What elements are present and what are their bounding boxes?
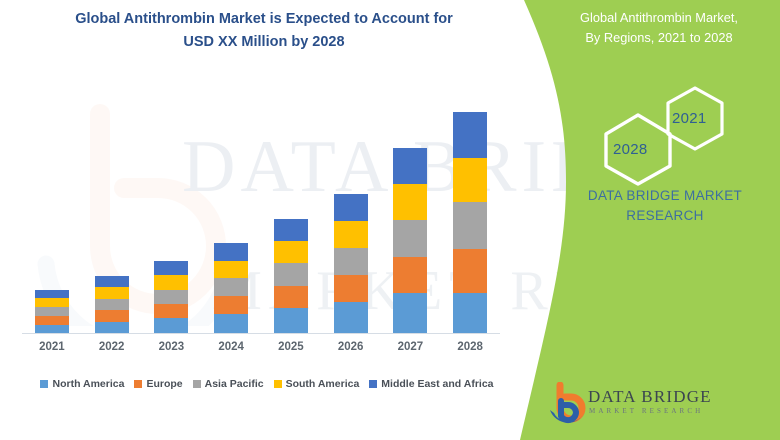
chart-bar-segment [393, 293, 427, 334]
legend-swatch [369, 380, 377, 388]
chart-bar-segment [154, 261, 188, 276]
chart-bar-segment [334, 248, 368, 275]
chart-bar [95, 276, 129, 334]
chart-bar-segment [35, 307, 69, 316]
x-axis-tick-label: 2028 [453, 341, 487, 353]
chart-bar-segment [334, 221, 368, 248]
legend-label: Middle East and Africa [381, 378, 493, 390]
legend-item[interactable]: South America [274, 378, 360, 390]
chart-bar-segment [274, 263, 308, 285]
chart-bar-segment [95, 276, 129, 287]
panel-brand-line-1: DATA BRIDGE MARKET [560, 186, 770, 206]
logo-subtext: MARKET RESEARCH [589, 407, 703, 415]
x-axis-tick-label: 2026 [334, 341, 368, 353]
chart-bar-segment [453, 112, 487, 158]
chart-bar-segment [274, 308, 308, 334]
legend-label: Asia Pacific [205, 378, 264, 390]
chart-bar-segment [453, 202, 487, 248]
hexagon-year-badges: 2021 2028 [592, 86, 732, 186]
legend-item[interactable]: Middle East and Africa [369, 378, 493, 390]
chart-bar-segment [214, 243, 248, 261]
legend-swatch [40, 380, 48, 388]
chart-bar-segment [35, 316, 69, 325]
page-title: Global Antithrombin Market is Expected t… [38, 8, 490, 54]
panel-title-line-1: Global Antithrombin Market, [545, 8, 773, 28]
chart-bar-segment [334, 194, 368, 221]
x-axis-tick-label: 2027 [393, 341, 427, 353]
legend-swatch [193, 380, 201, 388]
page-title-line-2: USD XX Million by 2028 [38, 31, 490, 54]
chart-bar-segment [274, 219, 308, 241]
chart-legend: North AmericaEuropeAsia PacificSouth Ame… [22, 374, 512, 394]
legend-item[interactable]: North America [40, 378, 124, 390]
chart-bar-segment [393, 257, 427, 293]
hexagon-outlines-icon [592, 86, 732, 186]
chart-bar-segment [393, 184, 427, 220]
chart-bar-segment [214, 278, 248, 296]
legend-label: North America [52, 378, 124, 390]
chart-bar [274, 219, 308, 334]
chart-bar-segment [453, 293, 487, 334]
legend-swatch [134, 380, 142, 388]
chart-bar-segment [154, 318, 188, 334]
data-bridge-mark-icon [548, 382, 588, 428]
x-axis-tick-label: 2023 [154, 341, 188, 353]
panel-title: Global Antithrombin Market, By Regions, … [545, 8, 773, 48]
chart-bar-segment [95, 310, 129, 322]
stacked-bar-chart [22, 86, 500, 334]
chart-bar-segment [274, 241, 308, 263]
chart-bar [453, 112, 487, 334]
chart-bar-segment [154, 304, 188, 318]
chart-bar-segment [334, 275, 368, 302]
chart-bar-segment [95, 299, 129, 311]
logo-wordmark: DATA BRIDGE [588, 387, 712, 407]
page-title-line-1: Global Antithrombin Market is Expected t… [38, 8, 490, 31]
legend-item[interactable]: Europe [134, 378, 182, 390]
chart-bar [35, 290, 69, 334]
legend-swatch [274, 380, 282, 388]
chart-bar [154, 261, 188, 334]
chart-bar-segment [154, 275, 188, 290]
chart-baseline [22, 333, 500, 334]
x-axis-tick-label: 2021 [35, 341, 69, 353]
data-bridge-logo[interactable]: DATA BRIDGE MARKET RESEARCH [548, 382, 748, 428]
panel-brand-text: DATA BRIDGE MARKET RESEARCH [560, 186, 770, 226]
x-axis-tick-label: 2025 [274, 341, 308, 353]
chart-bar-segment [393, 148, 427, 185]
chart-bar-segment [95, 287, 129, 299]
chart-bar-segment [214, 296, 248, 314]
chart-x-axis: 20212022202320242025202620272028 [22, 341, 500, 363]
chart-bar-segment [154, 290, 188, 304]
legend-item[interactable]: Asia Pacific [193, 378, 264, 390]
hex-label-2028: 2028 [613, 141, 648, 158]
legend-label: Europe [146, 378, 182, 390]
chart-bar [334, 194, 368, 334]
chart-bar-segment [35, 298, 69, 307]
legend-label: South America [286, 378, 360, 390]
panel-title-line-2: By Regions, 2021 to 2028 [545, 28, 773, 48]
chart-bar [214, 243, 248, 334]
x-axis-tick-label: 2022 [95, 341, 129, 353]
panel-brand-line-2: RESEARCH [560, 206, 770, 226]
x-axis-tick-label: 2024 [214, 341, 248, 353]
hex-label-2021: 2021 [672, 110, 707, 127]
chart-bar [393, 148, 427, 334]
chart-bar-segment [453, 158, 487, 202]
chart-bar-segment [393, 220, 427, 256]
chart-bar-segment [334, 302, 368, 334]
chart-bar-segment [453, 249, 487, 293]
chart-bar-segment [214, 314, 248, 334]
chart-bar-segment [214, 261, 248, 279]
infographic-canvas: DATA BRIDGE MARKET RESEARCH Global Antit… [0, 0, 780, 440]
chart-bar-segment [274, 286, 308, 308]
chart-bar-segment [35, 290, 69, 299]
